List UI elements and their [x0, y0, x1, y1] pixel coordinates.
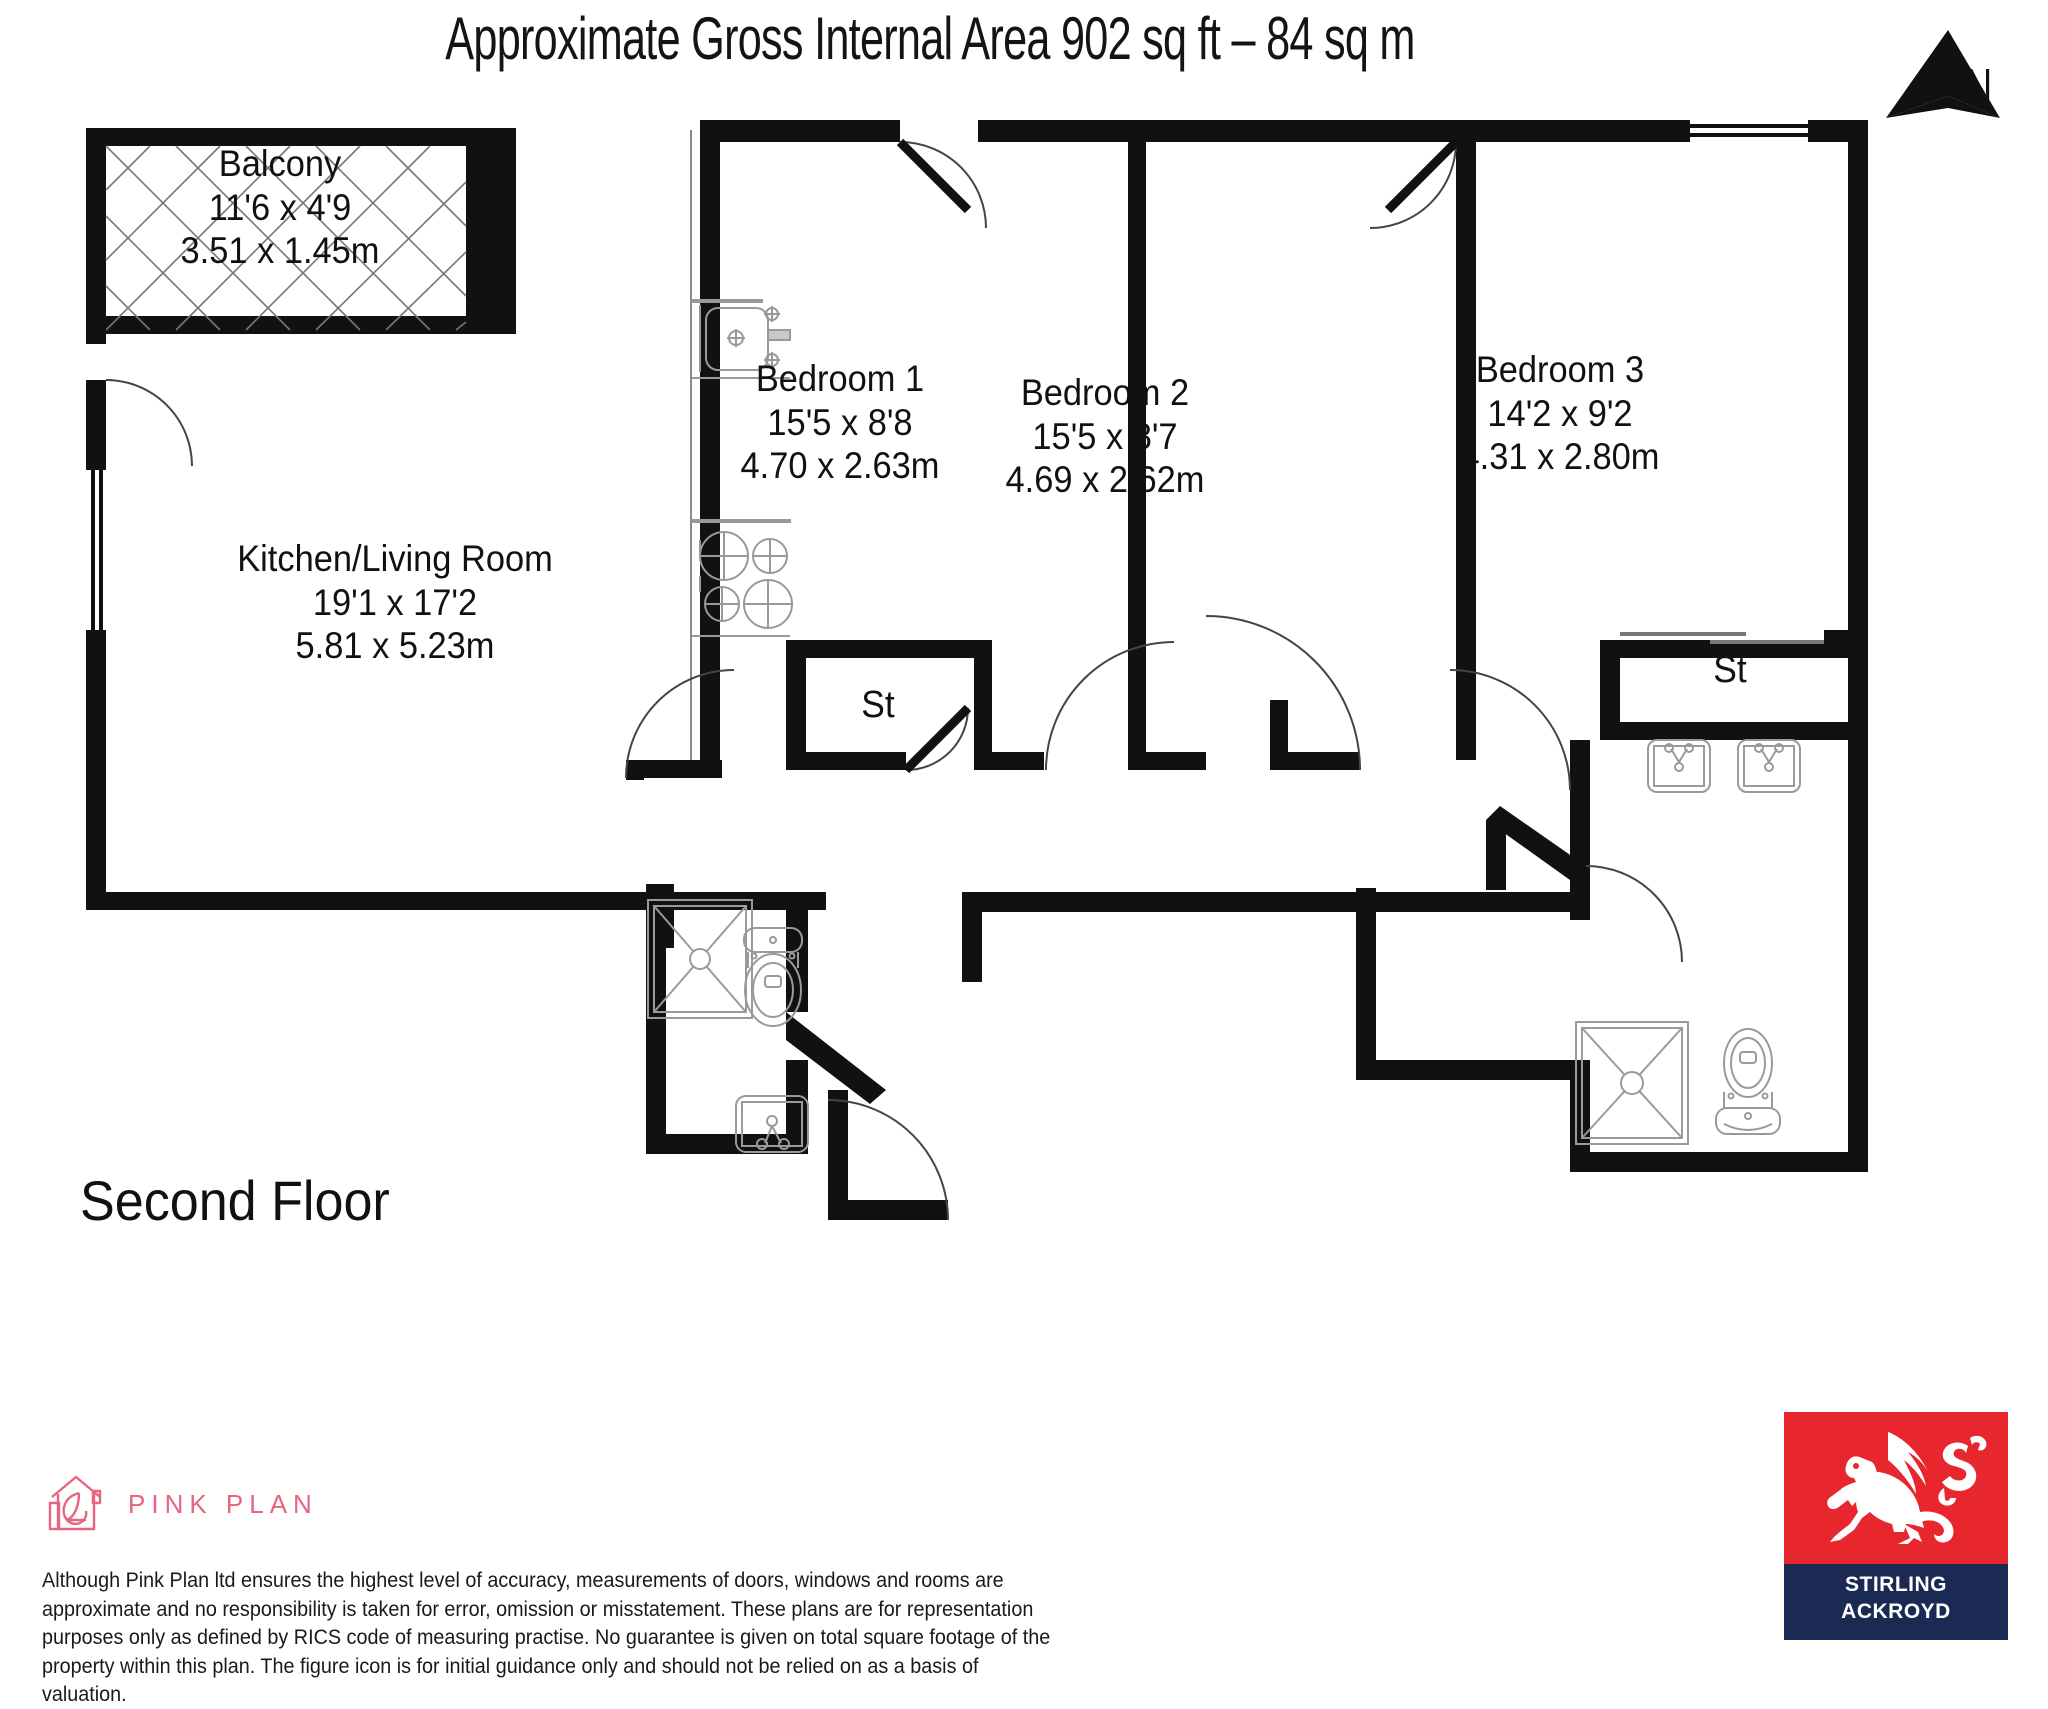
disclaimer-paragraph: Although Pink Plan ltd ensures the highe…	[42, 1566, 1054, 1709]
room-name: Kitchen/Living Room	[153, 537, 637, 581]
room-label-balcony: Balcony 11'6 x 4'9 3.51 x 1.45m	[113, 142, 448, 273]
pink-plan-branding: PINK PLAN	[46, 1468, 318, 1540]
logo-line-2: ACKROYD	[1784, 1599, 2008, 1626]
griffin-icon	[1792, 1420, 2000, 1560]
room-label-kitchen-living-room: Kitchen/Living Room 19'1 x 17'2 5.81 x 5…	[153, 537, 637, 668]
basin-icon	[1648, 740, 1710, 792]
floor-title: Second Floor	[80, 1168, 390, 1233]
room-dimensions-imperial: 14'2 x 9'2	[1346, 392, 1774, 436]
room-label-bedroom-3: Bedroom 3 14'2 x 9'2 4.31 x 2.80m	[1346, 348, 1774, 479]
logo-line-1: STIRLING	[1784, 1572, 2008, 1599]
stirling-ackroyd-logo: STIRLING ACKROYD	[1784, 1412, 2008, 1640]
room-dimensions-metric: 5.81 x 5.23m	[153, 624, 637, 668]
room-name: Bedroom 3	[1346, 348, 1774, 392]
toilet-icon	[1716, 1029, 1780, 1134]
room-dimensions-metric: 4.31 x 2.80m	[1346, 435, 1774, 479]
room-dimensions-imperial: 19'1 x 17'2	[153, 581, 637, 625]
storage-label-left: St	[861, 684, 894, 727]
disclaimer-text: Although Pink Plan ltd ensures the highe…	[42, 1566, 1054, 1709]
stirling-ackroyd-wordmark: STIRLING ACKROYD	[1784, 1572, 2008, 1626]
room-dimensions-imperial: 15'5 x 8'7	[891, 415, 1319, 459]
shower-tray-icon	[1576, 1022, 1688, 1144]
pink-plan-wordmark: PINK PLAN	[128, 1489, 318, 1520]
room-dimensions-metric: 3.51 x 1.45m	[113, 229, 448, 273]
room-name: Bedroom 2	[891, 371, 1319, 415]
room-name: Balcony	[113, 142, 448, 186]
room-label-bedroom-2: Bedroom 2 15'5 x 8'7 4.69 x 2.62m	[891, 371, 1319, 502]
walls-group	[86, 120, 1868, 1220]
storage-label-right: St	[1713, 649, 1746, 692]
basin-icon	[1738, 740, 1800, 792]
house-leaf-icon	[46, 1473, 106, 1535]
room-dimensions-metric: 4.69 x 2.62m	[891, 458, 1319, 502]
room-dimensions-imperial: 11'6 x 4'9	[113, 186, 448, 230]
floorplan-page: Approximate Gross Internal Area 902 sq f…	[0, 0, 2048, 1662]
